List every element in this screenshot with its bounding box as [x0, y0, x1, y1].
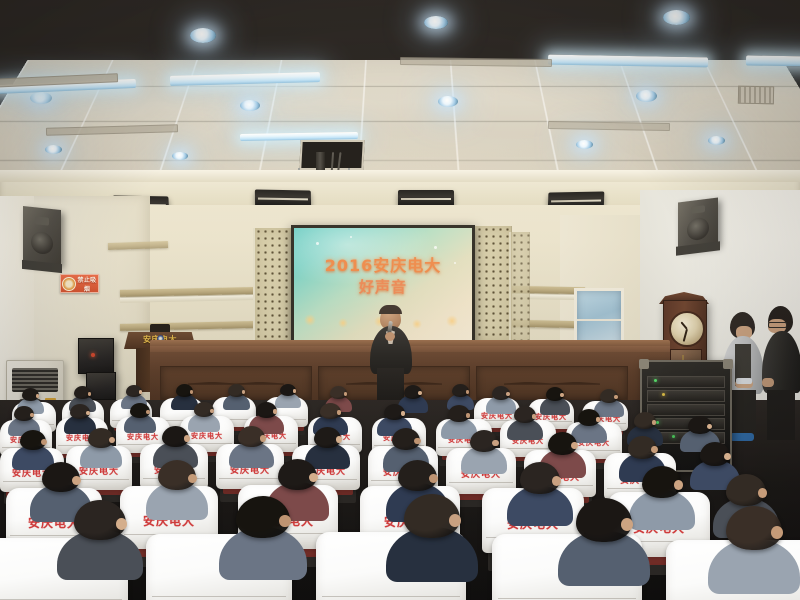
audience-ear [336, 436, 342, 442]
no-smoking-sign: 禁止吸烟 [60, 274, 99, 293]
screen-sparkle [316, 242, 319, 245]
screen-bokeh [338, 318, 348, 328]
speaker-tweeter [35, 216, 49, 225]
soffit-lip [0, 170, 800, 182]
audience-member [546, 387, 564, 415]
audience-ear [429, 474, 438, 483]
audience-member [314, 427, 341, 469]
audience-ear [242, 390, 246, 394]
person-trousers [767, 390, 795, 440]
chair-cover-seam [152, 596, 286, 597]
audience-ear [492, 440, 498, 447]
rack-corner [723, 359, 733, 369]
acoustic-panel [253, 228, 296, 346]
clock-face [669, 311, 705, 347]
chair-cover-seam [449, 482, 513, 483]
downlight-icon [240, 100, 260, 111]
audience-ear [466, 413, 471, 418]
audience-ear [279, 515, 291, 528]
audience-member [74, 500, 126, 580]
audience-member [726, 506, 782, 594]
audience-member [520, 462, 560, 526]
audience-ear [293, 389, 297, 393]
audience-member [70, 404, 90, 434]
audience-member [600, 389, 618, 417]
audience-ear [414, 438, 420, 445]
audience-ear [337, 410, 342, 415]
audience-ear [41, 439, 47, 445]
audience-ear [571, 442, 577, 449]
audience-ear [771, 526, 783, 539]
audience-ear [36, 394, 40, 398]
acoustic-panel [509, 232, 530, 340]
audience-member [404, 385, 422, 413]
screen-bokeh [446, 315, 458, 327]
audience-ear [724, 453, 731, 460]
strip-light-icon [746, 55, 800, 66]
rack-unit [647, 404, 725, 416]
audience-ear [758, 488, 767, 498]
downlight-icon [45, 145, 62, 154]
rack-unit [647, 376, 725, 388]
no-smoking-label: 禁止吸烟 [76, 275, 98, 293]
audience-ear [188, 474, 196, 483]
audience-ear [273, 409, 278, 414]
audience-member [236, 496, 290, 580]
downlight-icon [30, 92, 52, 104]
speaker-cone [31, 231, 53, 255]
audience-member [576, 498, 632, 586]
audience-ear [552, 476, 561, 486]
rack-corner [639, 359, 649, 369]
rack-unit [647, 390, 725, 402]
audience-member [404, 494, 460, 582]
audience-ear [401, 411, 406, 416]
chair-cover-seam [322, 596, 460, 597]
ceiling-vent-icon [738, 86, 774, 105]
speaker-tweeter [691, 205, 705, 214]
person-shoes [730, 433, 754, 441]
downlight-icon [190, 28, 216, 43]
audience-ear [30, 413, 34, 418]
speaker-power-led [91, 353, 95, 357]
screen-title-line-1: 2016安庆电大 [294, 252, 472, 276]
audience-ear [674, 480, 683, 490]
audience-ear [466, 390, 470, 394]
downlight-icon [424, 16, 448, 29]
person-trousers [730, 390, 756, 436]
loudspeaker-icon [78, 338, 114, 374]
audience-ear [449, 514, 461, 527]
audience-member [578, 409, 600, 443]
audience-member [470, 430, 498, 474]
audience-ear [596, 417, 601, 422]
audience-ear [707, 424, 712, 429]
audience-ear [109, 437, 115, 443]
audience-member [228, 384, 245, 410]
audience-member [492, 386, 510, 414]
presenter-hair [379, 305, 402, 314]
audience-member [88, 428, 114, 468]
audience-member [514, 406, 536, 440]
audience-ear [86, 411, 90, 416]
screen-title-line-2: 好声音 [294, 276, 472, 297]
audience-ear [344, 392, 348, 396]
audience-ear [560, 393, 564, 397]
chair-cover-seam [498, 598, 636, 599]
audience-member [130, 403, 150, 433]
downlight-icon [172, 152, 188, 160]
audience-ear [614, 395, 618, 399]
rack-status-led [656, 421, 659, 424]
audience-ear [532, 414, 537, 419]
audience-ear [506, 392, 510, 396]
presenter-hand [385, 332, 395, 341]
rack-unit [647, 418, 725, 430]
auditorium-photo-scene: 2016安庆电大 好声音 禁止吸烟 安庆电大 [0, 0, 800, 600]
audience-member [280, 384, 296, 408]
no-smoking-icon [62, 277, 76, 291]
audience-ear [146, 410, 150, 415]
presenter-legs [377, 368, 404, 400]
person-phone-icon [736, 378, 752, 384]
downlight-icon [576, 140, 593, 149]
screen-sparkle [434, 246, 437, 249]
downlight-icon [663, 10, 690, 25]
audience-ear [418, 391, 422, 395]
audience-ear [72, 476, 80, 485]
downlight-icon [438, 96, 458, 107]
downlight-icon [636, 90, 657, 102]
clock-minute-hand [683, 329, 688, 342]
audience-member [158, 460, 196, 520]
audience-ear [621, 518, 633, 531]
downlight-icon [708, 136, 725, 145]
audience-ear [210, 409, 214, 414]
audience-ear [139, 390, 143, 394]
audience-ear [190, 390, 194, 394]
screen-bokeh [304, 314, 316, 326]
speaker-cone [687, 217, 709, 242]
audience-ear [260, 435, 266, 441]
audience-member [642, 466, 682, 530]
screen-sparkle [350, 236, 352, 238]
audience-member [176, 384, 193, 410]
rack-status-led [654, 379, 657, 382]
standing-person [762, 306, 800, 446]
chair-cover-seam [219, 478, 282, 479]
audience-ear [652, 420, 657, 425]
audience-ear [651, 446, 657, 453]
audience-ear [184, 435, 190, 441]
audience-member [238, 426, 265, 468]
rack-status-led [672, 435, 675, 438]
chair-cover-seam [0, 599, 122, 600]
audience-ear [309, 473, 318, 482]
rack-status-led [662, 393, 665, 396]
loudspeaker-icon [23, 206, 61, 266]
audience-ear [116, 518, 127, 530]
person-glasses-icon [768, 322, 787, 328]
audience-member [194, 402, 214, 432]
audience-ear [88, 392, 92, 396]
audience-member [448, 405, 470, 439]
person-hands [762, 378, 774, 387]
